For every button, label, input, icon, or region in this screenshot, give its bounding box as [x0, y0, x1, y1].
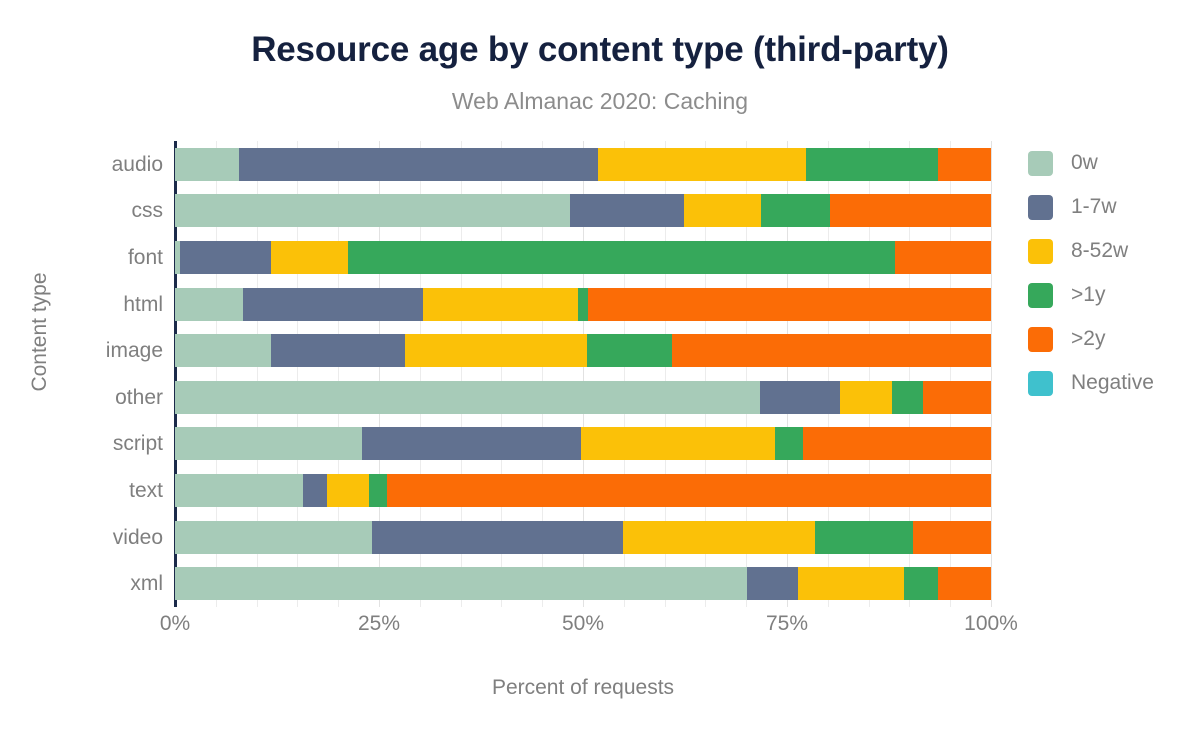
legend-swatch-icon: [1028, 327, 1053, 352]
y-axis-tick-html: html: [0, 288, 163, 321]
bar-segment-audio-0w[interactable]: [175, 148, 239, 181]
bar-segment-xml-1-7w[interactable]: [747, 567, 798, 600]
bar-segment-font->2y[interactable]: [895, 241, 991, 274]
bar-row-other[interactable]: [175, 381, 991, 414]
bar-row-audio[interactable]: [175, 148, 991, 181]
bar-segment-video->1y[interactable]: [815, 521, 914, 554]
y-axis-tick-video: video: [0, 521, 163, 554]
bar-segment-text-1-7w[interactable]: [303, 474, 327, 507]
bar-segment-css->2y[interactable]: [830, 194, 991, 227]
y-axis-title: Content type: [28, 222, 52, 442]
bar-segment-css->1y[interactable]: [761, 194, 830, 227]
bar-segment-text-8-52w[interactable]: [327, 474, 369, 507]
legend-label: 0w: [1071, 151, 1098, 175]
legend-label: 1-7w: [1071, 195, 1117, 219]
bar-segment-font->1y[interactable]: [348, 241, 895, 274]
x-axis-tick-75: 75%: [766, 612, 808, 636]
bar-segment-video-0w[interactable]: [175, 521, 372, 554]
bar-segment-xml->2y[interactable]: [938, 567, 991, 600]
bar-segment-other-8-52w[interactable]: [840, 381, 892, 414]
chart-figure: Resource age by content type (third-part…: [0, 0, 1200, 742]
page-title: Resource age by content type (third-part…: [0, 30, 1200, 70]
bar-segment-script-8-52w[interactable]: [581, 427, 774, 460]
gridline: [991, 141, 992, 607]
x-axis-title: Percent of requests: [175, 676, 991, 700]
legend-swatch-icon: [1028, 151, 1053, 176]
y-axis-labels: audiocssfonthtmlimageotherscripttextvide…: [0, 141, 163, 607]
legend-swatch-icon: [1028, 371, 1053, 396]
bar-segment-video-1-7w[interactable]: [372, 521, 623, 554]
bar-segment-xml-0w[interactable]: [175, 567, 747, 600]
legend-swatch-icon: [1028, 239, 1053, 264]
bar-segment-audio->2y[interactable]: [938, 148, 991, 181]
bar-segment-text->1y[interactable]: [369, 474, 387, 507]
legend-item-0w[interactable]: 0w: [1028, 141, 1193, 185]
y-axis-tick-audio: audio: [0, 148, 163, 181]
bar-segment-image->2y[interactable]: [672, 334, 991, 367]
bar-segment-other-0w[interactable]: [175, 381, 760, 414]
y-axis-tick-image: image: [0, 334, 163, 367]
bar-segment-xml->1y[interactable]: [904, 567, 938, 600]
bar-segment-html-0w[interactable]: [175, 288, 243, 321]
y-axis-tick-script: script: [0, 427, 163, 460]
bar-row-script[interactable]: [175, 427, 991, 460]
bar-row-font[interactable]: [175, 241, 991, 274]
y-axis-tick-font: font: [0, 241, 163, 274]
bar-segment-css-1-7w[interactable]: [570, 194, 684, 227]
x-axis-tick-100: 100%: [964, 612, 1018, 636]
legend-label: >1y: [1071, 283, 1105, 307]
bar-segment-font-8-52w[interactable]: [271, 241, 348, 274]
legend-item-8-52w[interactable]: 8-52w: [1028, 229, 1193, 273]
y-axis-tick-css: css: [0, 194, 163, 227]
bar-segment-font-1-7w[interactable]: [180, 241, 271, 274]
bar-segment-image-8-52w[interactable]: [405, 334, 587, 367]
legend-item->2y[interactable]: >2y: [1028, 317, 1193, 361]
legend-swatch-icon: [1028, 283, 1053, 308]
legend-label: Negative: [1071, 371, 1154, 395]
legend-item-1-7w[interactable]: 1-7w: [1028, 185, 1193, 229]
bar-segment-other-1-7w[interactable]: [760, 381, 840, 414]
legend-label: >2y: [1071, 327, 1105, 351]
legend-swatch-icon: [1028, 195, 1053, 220]
x-axis-tick-50: 50%: [562, 612, 604, 636]
legend-item->1y[interactable]: >1y: [1028, 273, 1193, 317]
legend-item-Negative[interactable]: Negative: [1028, 361, 1193, 405]
bar-row-video[interactable]: [175, 521, 991, 554]
x-axis-labels: 0%25%50%75%100%: [175, 612, 991, 642]
y-axis-tick-other: other: [0, 381, 163, 414]
legend: 0w1-7w8-52w>1y>2yNegative: [1028, 141, 1193, 405]
bar-segment-other->2y[interactable]: [923, 381, 991, 414]
bar-segment-text->2y[interactable]: [387, 474, 991, 507]
legend-label: 8-52w: [1071, 239, 1128, 263]
bar-segment-css-8-52w[interactable]: [684, 194, 761, 227]
bar-row-xml[interactable]: [175, 567, 991, 600]
bar-segment-other->1y[interactable]: [892, 381, 923, 414]
bar-segment-html->1y[interactable]: [578, 288, 588, 321]
bar-segment-css-0w[interactable]: [175, 194, 570, 227]
bar-row-text[interactable]: [175, 474, 991, 507]
chart-subtitle: Web Almanac 2020: Caching: [0, 88, 1200, 115]
bar-segment-xml-8-52w[interactable]: [798, 567, 904, 600]
plot-area: [175, 141, 991, 607]
bar-segment-video->2y[interactable]: [913, 521, 991, 554]
x-axis-tick-0: 0%: [160, 612, 190, 636]
bar-segment-script-1-7w[interactable]: [362, 427, 582, 460]
bar-segment-image->1y[interactable]: [587, 334, 672, 367]
bar-segment-image-1-7w[interactable]: [271, 334, 405, 367]
bar-segment-audio-8-52w[interactable]: [598, 148, 806, 181]
bar-segment-script->1y[interactable]: [775, 427, 804, 460]
bar-segment-image-0w[interactable]: [175, 334, 271, 367]
bar-segment-html-1-7w[interactable]: [243, 288, 423, 321]
bar-segment-audio-1-7w[interactable]: [239, 148, 598, 181]
bar-segment-script-0w[interactable]: [175, 427, 362, 460]
y-axis-tick-text: text: [0, 474, 163, 507]
bar-segment-text-0w[interactable]: [175, 474, 303, 507]
bar-row-css[interactable]: [175, 194, 991, 227]
bar-segment-video-8-52w[interactable]: [623, 521, 815, 554]
bar-segment-audio->1y[interactable]: [806, 148, 938, 181]
y-axis-tick-xml: xml: [0, 567, 163, 600]
bar-rows: [175, 141, 991, 607]
bar-row-html[interactable]: [175, 288, 991, 321]
bar-segment-html-8-52w[interactable]: [423, 288, 578, 321]
bar-row-image[interactable]: [175, 334, 991, 367]
bar-segment-script->2y[interactable]: [803, 427, 991, 460]
bar-segment-html->2y[interactable]: [588, 288, 991, 321]
x-axis-tick-25: 25%: [358, 612, 400, 636]
